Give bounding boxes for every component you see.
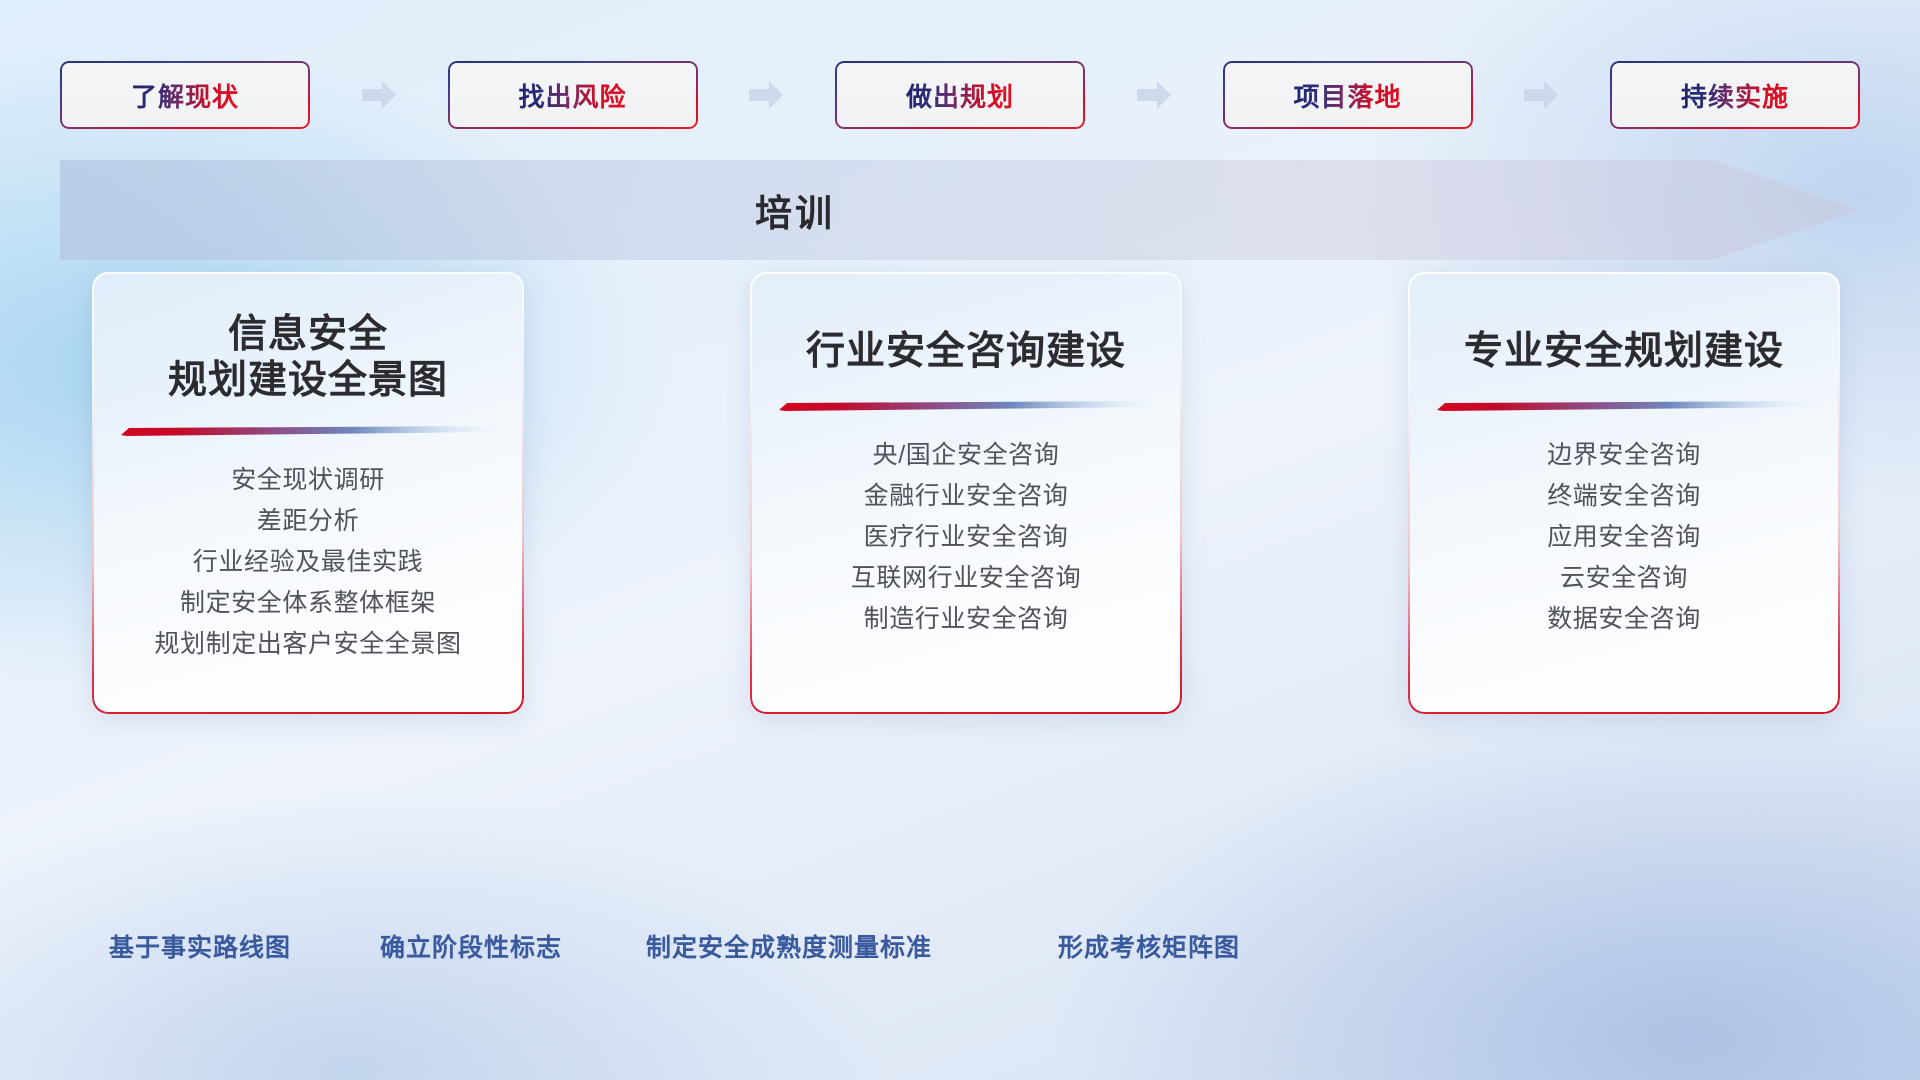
card-1-title-line-2: 规划建设全景图: [92, 358, 524, 404]
list-item: 终端安全咨询: [1547, 476, 1701, 517]
card-row: 信息安全 规划建设全景图: [92, 272, 1840, 714]
banner-label: 培训: [60, 160, 1530, 260]
card-1-divider: [121, 426, 495, 436]
list-item: 央/国企安全咨询: [873, 435, 1060, 476]
caption-4: 形成考核矩阵图: [1058, 928, 1240, 964]
caption-1: 基于事实路线图: [109, 928, 291, 964]
step-connector-arrow-icon: [1522, 78, 1560, 112]
list-item: 医疗行业安全咨询: [864, 517, 1069, 558]
card-1-list: 安全现状调研 差距分析 行业经验及最佳实践 制定安全体系整体框架 规划制定出客户…: [92, 460, 524, 665]
card-2-divider: [779, 401, 1153, 411]
card-3-title: 专业安全规划建设: [1408, 329, 1840, 375]
list-item: 云安全咨询: [1560, 558, 1688, 599]
card-3-divider: [1437, 401, 1811, 411]
step-connector-arrow-icon: [747, 78, 785, 112]
list-item: 差距分析: [257, 501, 359, 542]
card-3-title-line-1: 专业安全规划建设: [1408, 329, 1840, 375]
card-2-title: 行业安全咨询建设: [750, 329, 1182, 375]
list-item: 安全现状调研: [231, 460, 385, 501]
card-2-list: 央/国企安全咨询 金融行业安全咨询 医疗行业安全咨询 互联网行业安全咨询 制造行…: [750, 435, 1182, 640]
list-item: 数据安全咨询: [1547, 599, 1701, 640]
list-item: 应用安全咨询: [1547, 517, 1701, 558]
card-3-list: 边界安全咨询 终端安全咨询 应用安全咨询 云安全咨询 数据安全咨询: [1408, 435, 1840, 640]
process-step-5-label: 持续实施: [1681, 77, 1789, 114]
list-item: 规划制定出客户安全全景图: [154, 624, 461, 665]
process-step-1-label: 了解现状: [131, 77, 239, 114]
card-industry-security-consulting[interactable]: 行业安全咨询建设: [750, 272, 1182, 714]
process-step-row: 了解现状 找出风险 做出规划 项目落地 持续实施: [60, 61, 1860, 129]
process-step-3-label: 做出规划: [906, 77, 1014, 114]
process-step-4-label: 项目落地: [1293, 77, 1401, 114]
process-step-1[interactable]: 了解现状: [60, 61, 310, 129]
training-banner: 培训: [60, 160, 1860, 260]
process-step-2-label: 找出风险: [518, 77, 626, 114]
caption-3: 制定安全成熟度测量标准: [646, 928, 932, 964]
list-item: 制造行业安全咨询: [864, 599, 1069, 640]
caption-2: 确立阶段性标志: [380, 928, 562, 964]
card-professional-security-planning[interactable]: 专业安全规划建设: [1408, 272, 1840, 714]
list-item: 行业经验及最佳实践: [193, 542, 423, 583]
list-item: 金融行业安全咨询: [864, 476, 1069, 517]
process-step-5[interactable]: 持续实施: [1610, 61, 1860, 129]
slide-canvas: 了解现状 找出风险 做出规划 项目落地 持续实施 培训: [0, 0, 1920, 1080]
list-item: 制定安全体系整体框架: [180, 583, 436, 624]
caption-row: 基于事实路线图 确立阶段性标志 制定安全成熟度测量标准 形成考核矩阵图: [0, 928, 1920, 970]
process-step-2[interactable]: 找出风险: [448, 61, 698, 129]
process-step-3[interactable]: 做出规划: [835, 61, 1085, 129]
process-step-4[interactable]: 项目落地: [1223, 61, 1473, 129]
card-information-security-blueprint[interactable]: 信息安全 规划建设全景图: [92, 272, 524, 714]
card-1-title-line-1: 信息安全: [92, 312, 524, 358]
card-1-title: 信息安全 规划建设全景图: [92, 312, 524, 404]
card-2-title-line-1: 行业安全咨询建设: [750, 329, 1182, 375]
step-connector-arrow-icon: [1135, 78, 1173, 112]
list-item: 互联网行业安全咨询: [851, 558, 1081, 599]
step-connector-arrow-icon: [360, 78, 398, 112]
list-item: 边界安全咨询: [1547, 435, 1701, 476]
